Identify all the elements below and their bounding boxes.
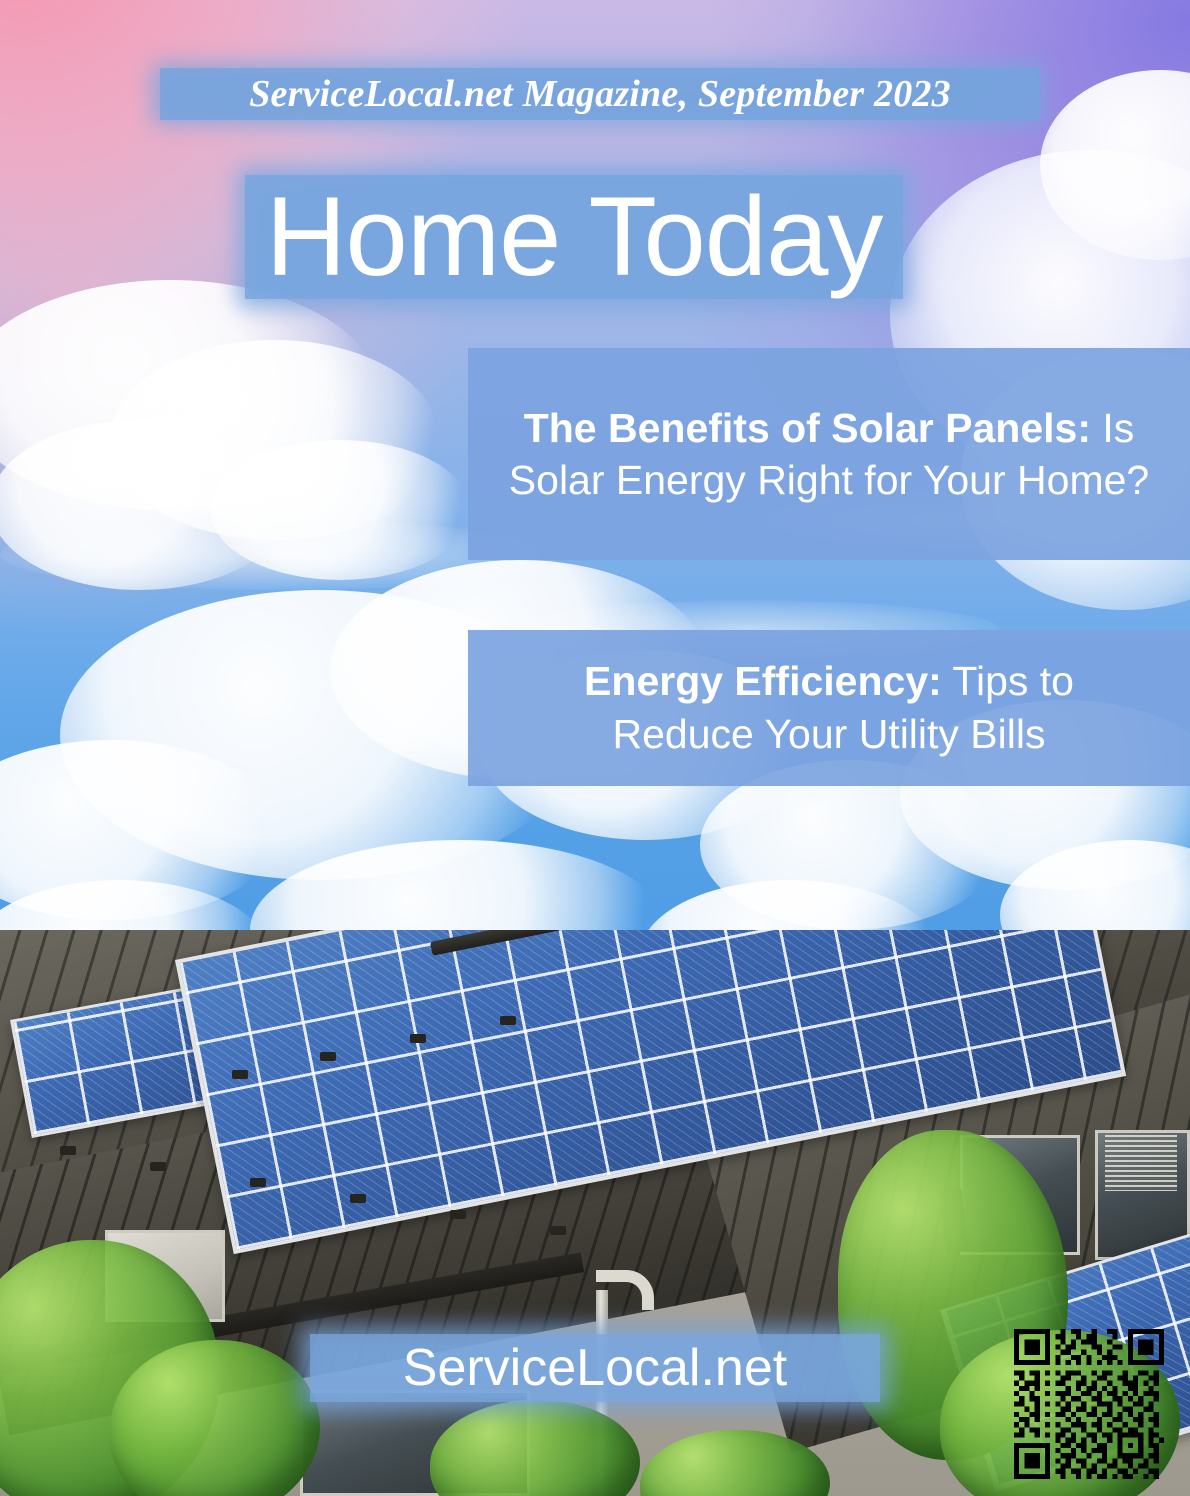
headline-2-lead: Energy Efficiency: xyxy=(584,658,942,704)
cloud xyxy=(0,280,380,510)
page-title: Home Today xyxy=(266,181,883,293)
title-band: Home Today xyxy=(245,175,903,299)
issue-line: ServiceLocal.net Magazine, September 202… xyxy=(249,72,951,116)
headline-1-text: The Benefits of Solar Panels: Is Solar E… xyxy=(498,402,1160,507)
headline-block-1[interactable]: The Benefits of Solar Panels: Is Solar E… xyxy=(468,348,1190,560)
headline-block-2[interactable]: Energy Efficiency: Tips to Reduce Your U… xyxy=(468,630,1190,786)
footer-url: ServiceLocal.net xyxy=(403,1338,787,1398)
footer-band[interactable]: ServiceLocal.net xyxy=(310,1334,880,1402)
issue-band: ServiceLocal.net Magazine, September 202… xyxy=(160,68,1040,120)
headline-2-text: Energy Efficiency: Tips to Reduce Your U… xyxy=(528,655,1130,762)
cloud xyxy=(110,340,440,540)
cloud xyxy=(1040,70,1190,260)
window-blind xyxy=(1105,1135,1177,1191)
cloud xyxy=(0,740,280,920)
headline-1-lead: The Benefits of Solar Panels: xyxy=(524,405,1091,451)
qr-code-icon[interactable] xyxy=(1014,1329,1164,1479)
house-solar-roof-photo xyxy=(0,930,1190,1496)
magazine-cover: ServiceLocal.net Magazine, September 202… xyxy=(0,0,1190,1496)
